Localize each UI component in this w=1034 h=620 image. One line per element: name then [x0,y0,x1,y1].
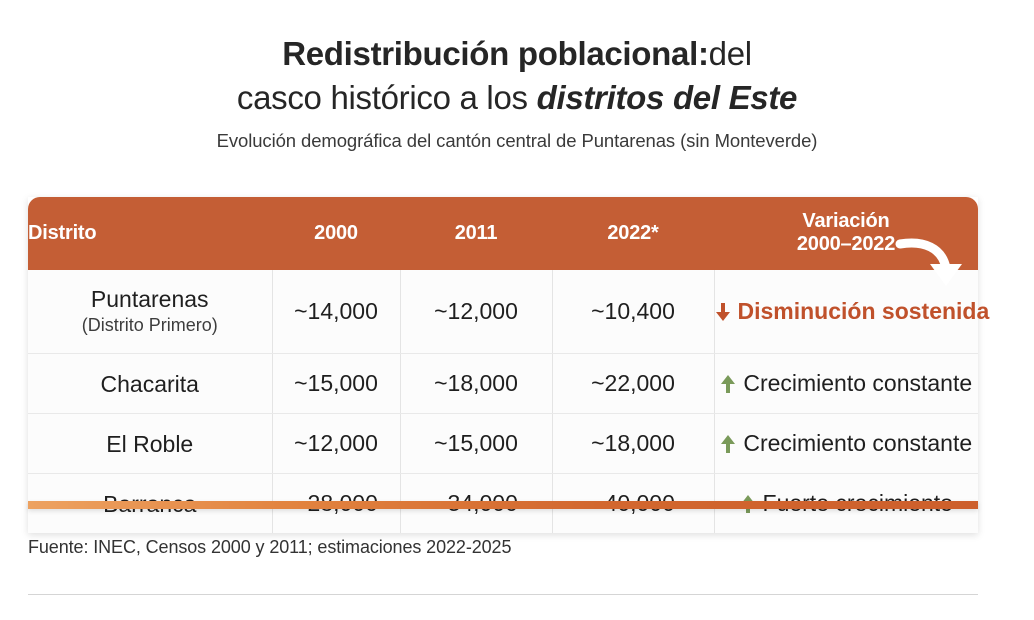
arrow-up-icon [720,375,736,393]
demographics-table: Distrito 2000 2011 2022* Variación 2000–… [28,197,978,533]
district-name: El Roble [106,431,193,457]
cell-district: Chacarita [28,354,272,414]
table-body: Puntarenas (Distrito Primero) ~14,000 ~1… [28,270,978,533]
title-block: Redistribución poblacional:del casco his… [0,0,1034,118]
cell-2011: ~12,000 [400,270,552,354]
cell-2011: ~18,000 [400,354,552,414]
source-note: Fuente: INEC, Censos 2000 y 2011; estima… [28,537,511,558]
column-header-variacion: Variación 2000–2022 [714,197,978,270]
demographics-table-wrapper: Distrito 2000 2011 2022* Variación 2000–… [28,197,978,533]
cell-2022: ~10,400 [552,270,714,354]
district-name: Chacarita [101,371,199,397]
cell-2000: ~15,000 [272,354,400,414]
cell-variacion: Disminución sostenida [714,270,978,354]
page-subtitle: Evolución demográfica del cantón central… [0,130,1034,152]
variacion-text: Crecimiento constante [743,430,972,456]
table-row: Puntarenas (Distrito Primero) ~14,000 ~1… [28,270,978,354]
column-header-variacion-line1: Variación [714,210,978,233]
table-bottom-accent-bar [28,501,978,509]
cell-variacion: Crecimiento constante [714,414,978,474]
footer-divider [28,594,978,595]
cell-2022: ~18,000 [552,414,714,474]
cell-2011: ~15,000 [400,414,552,474]
arrow-up-icon [720,435,736,453]
cell-2000: ~14,000 [272,270,400,354]
cell-2022: ~22,000 [552,354,714,414]
arrow-down-icon [715,303,731,321]
column-header-2011: 2011 [400,197,552,270]
district-name: Puntarenas [91,286,209,312]
cell-district: El Roble [28,414,272,474]
page-title-emphasis: distritos del Este [537,79,798,116]
table-row: Chacarita ~15,000 ~18,000 ~22,000 Crecim… [28,354,978,414]
variacion-text: Disminución sostenida [738,298,990,324]
table-header: Distrito 2000 2011 2022* Variación 2000–… [28,197,978,270]
table-header-row: Distrito 2000 2011 2022* Variación 2000–… [28,197,978,270]
page-title-line-1: Redistribución poblacional:del [0,34,1034,74]
variacion-text: Crecimiento constante [743,370,972,396]
cell-district: Puntarenas (Distrito Primero) [28,270,272,354]
column-header-variacion-line2: 2000–2022 [714,233,978,256]
page-title-line2-regular: casco histórico a los [237,79,537,116]
cell-2000: ~12,000 [272,414,400,474]
column-header-2022: 2022* [552,197,714,270]
cell-variacion: Crecimiento constante [714,354,978,414]
column-header-distrito: Distrito [28,197,272,270]
page-title-regular: del [709,35,752,72]
table-row: El Roble ~12,000 ~15,000 ~18,000 Crecimi… [28,414,978,474]
page-title-bold: Redistribución poblacional: [282,35,708,72]
column-header-2000: 2000 [272,197,400,270]
page-title-line-2: casco histórico a los distritos del Este [0,78,1034,118]
district-subtitle: (Distrito Primero) [28,313,272,337]
